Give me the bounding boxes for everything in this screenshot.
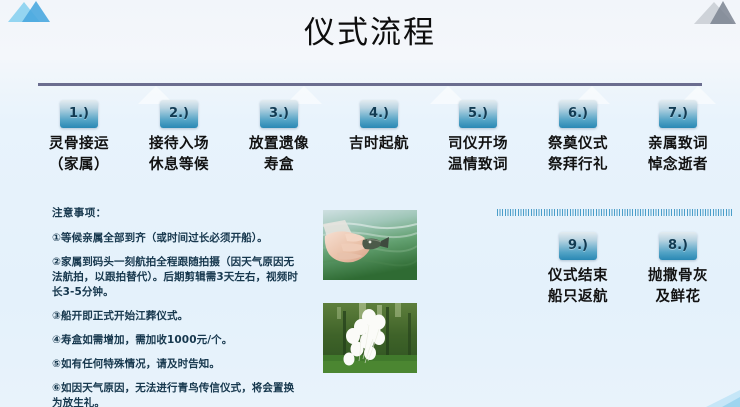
- step-number-badge: 3.): [260, 100, 298, 128]
- note-item: ①等候亲属全部到齐（或时间过长必须开船）。: [52, 231, 304, 246]
- step-number-badge: 1.): [60, 100, 98, 128]
- step-label: 放置遗像 寿盒: [231, 134, 327, 176]
- step-item-6[interactable]: 6.) 祭奠仪式 祭拜行礼: [530, 100, 626, 176]
- step-number-badge: 8.): [659, 232, 697, 260]
- step-item-2[interactable]: 2.) 接待入场 休息等候: [131, 100, 227, 176]
- step-label: 仪式结束 船只返航: [530, 266, 626, 308]
- step-number-badge: 2.): [160, 100, 198, 128]
- step-item-5[interactable]: 5.) 司仪开场 温情致词: [430, 100, 526, 176]
- step-item-8[interactable]: 8.) 抛撒骨灰 及鲜花: [630, 232, 726, 308]
- step-item-9[interactable]: 9.) 仪式结束 船只返航: [530, 232, 626, 308]
- bottom-right-triangle-icon: [722, 397, 740, 407]
- step-label: 接待入场 休息等候: [131, 134, 227, 176]
- step-item-7[interactable]: 7.) 亲属致词 悼念逝者: [630, 100, 726, 176]
- step-item-1[interactable]: 1.) 灵骨接运 （家属）: [31, 100, 127, 176]
- step-label: 吉时起航: [331, 134, 427, 155]
- notes-block: 注意事项： ①等候亲属全部到齐（或时间过长必须开船）。 ②家属到码头一刻航拍全程…: [52, 206, 304, 407]
- step-label: 抛撒骨灰 及鲜花: [630, 266, 726, 308]
- fish-release-image: [323, 210, 417, 280]
- note-item: ⑥如因天气原因，无法进行青鸟传信仪式，将会置换为放生礼。: [52, 381, 304, 407]
- step-item-3[interactable]: 3.) 放置遗像 寿盒: [231, 100, 327, 176]
- note-item: ②家属到码头一刻航拍全程跟随拍摄（因天气原因无法航拍，以跟拍替代）。后期剪辑需3…: [52, 255, 304, 300]
- step-label: 司仪开场 温情致词: [430, 134, 526, 176]
- step-item-4[interactable]: 4.) 吉时起航: [331, 100, 427, 155]
- step-label: 亲属致词 悼念逝者: [630, 134, 726, 176]
- fish-release-photo: [323, 210, 417, 280]
- title-divider: [38, 83, 702, 86]
- dotted-divider: [497, 209, 733, 216]
- slide-canvas: 仪式流程 1.) 灵骨接运 （家属） 2.) 接待入场 休息等候 3.) 放置遗…: [0, 0, 740, 407]
- note-item: ⑤如有任何特殊情况，请及时告知。: [52, 357, 304, 372]
- white-balloons-photo: [323, 303, 417, 373]
- step-label: 灵骨接运 （家属）: [31, 134, 127, 176]
- step-number-badge: 4.): [360, 100, 398, 128]
- white-balloons-image: [323, 303, 417, 373]
- step-number-badge: 9.): [559, 232, 597, 260]
- page-title: 仪式流程: [0, 14, 740, 52]
- notes-title: 注意事项：: [52, 206, 304, 221]
- step-number-badge: 7.): [659, 100, 697, 128]
- note-item: ③船开即正式开始江葬仪式。: [52, 309, 304, 324]
- step-label: 祭奠仪式 祭拜行礼: [530, 134, 626, 176]
- step-number-badge: 6.): [559, 100, 597, 128]
- note-item: ④寿盒如需增加，需加收1000元/个。: [52, 333, 304, 348]
- step-number-badge: 5.): [459, 100, 497, 128]
